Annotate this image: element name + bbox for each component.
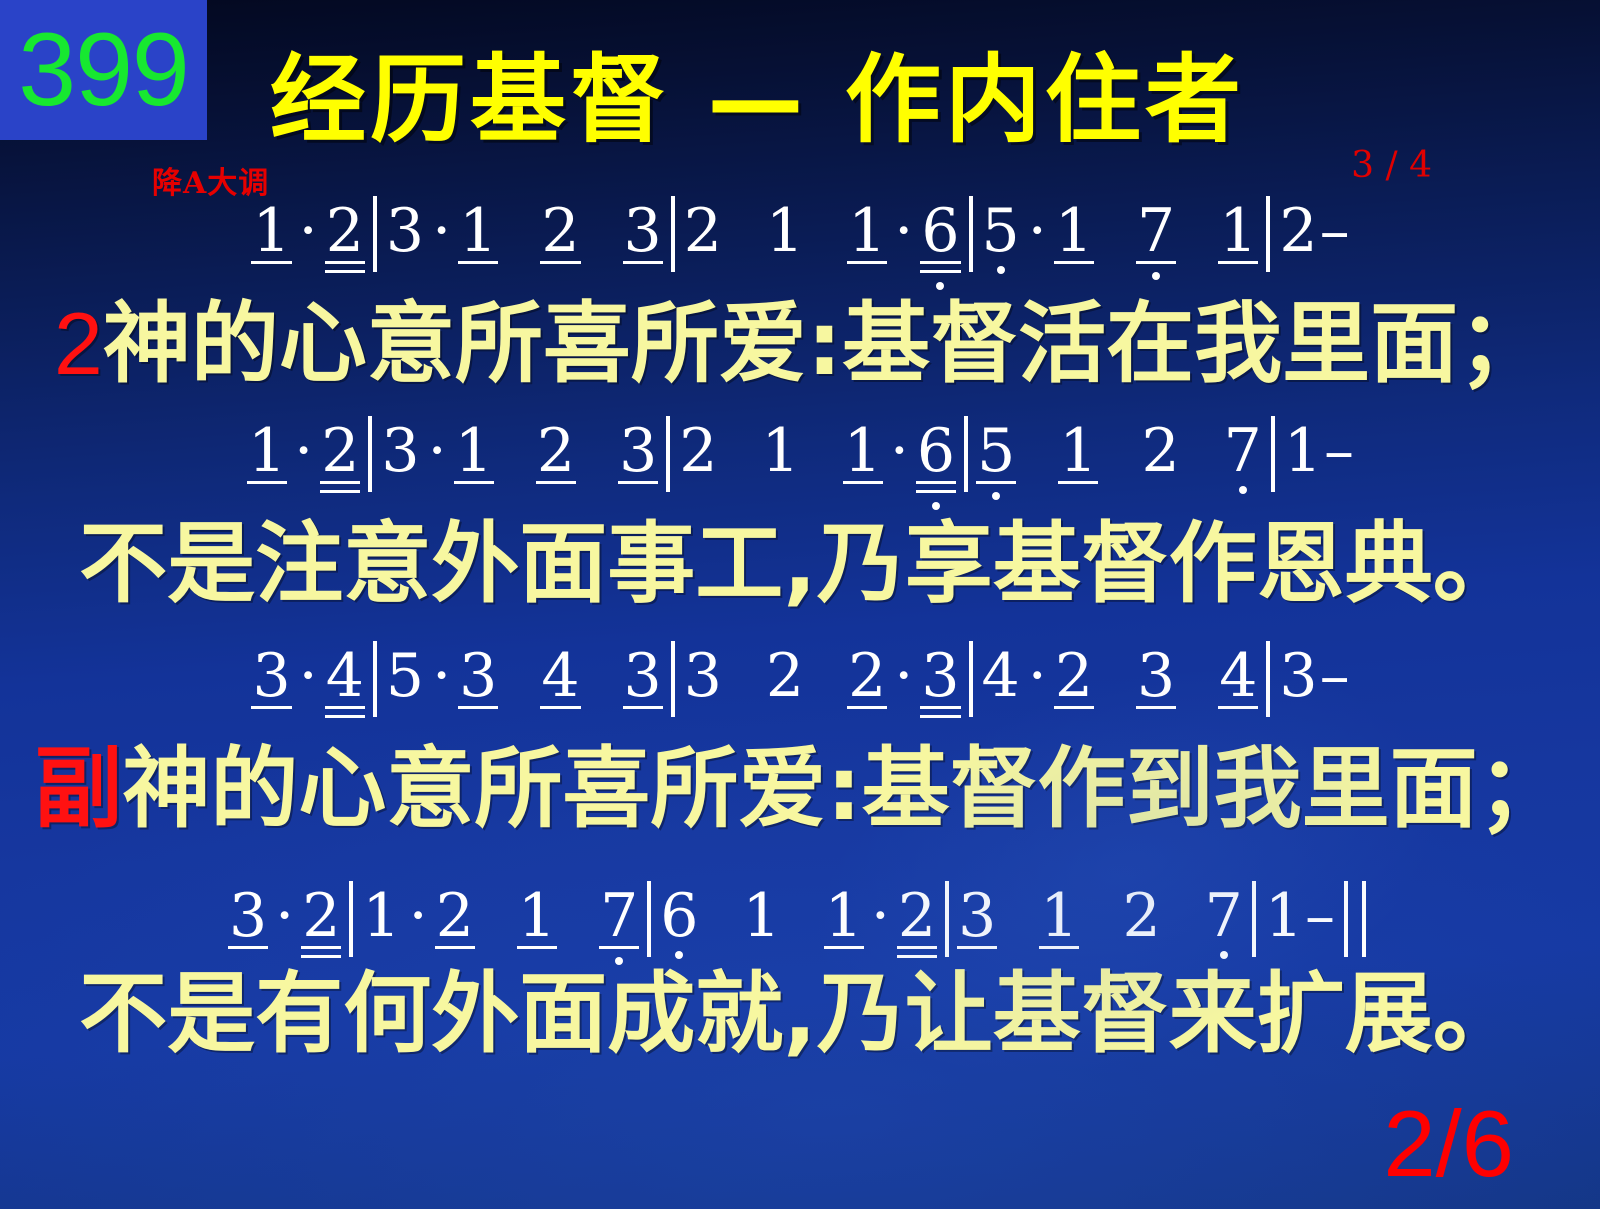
- note: 3: [682, 641, 724, 711]
- note: 6: [658, 881, 700, 951]
- page-counter: 2/6: [1383, 1097, 1514, 1191]
- note: 7: [1203, 881, 1245, 951]
- note: 2: [764, 641, 806, 711]
- note: 3: [1135, 641, 1177, 711]
- barline: [969, 641, 973, 717]
- low-octave-dot: [997, 266, 1005, 274]
- low-octave-dot: [1152, 272, 1160, 280]
- verse-marker-1: 2: [54, 294, 103, 393]
- note: 3: [1277, 641, 1319, 711]
- augmentation-dot: ·: [865, 881, 896, 951]
- notation-stave-3: 3·45·343322·34·2343–: [0, 641, 1600, 745]
- low-octave-dot: [1239, 486, 1247, 494]
- low-octave-dot: [936, 282, 944, 290]
- note: 1: [453, 416, 495, 486]
- low-octave-dot: [992, 492, 1000, 500]
- note: 7: [1135, 196, 1177, 266]
- barline: [945, 881, 949, 957]
- note: 6: [919, 196, 961, 266]
- note: 3: [919, 641, 961, 711]
- sustain-dash: –: [1320, 641, 1350, 711]
- note: 3: [227, 881, 269, 951]
- measure: 1·217: [360, 881, 640, 951]
- note: 1: [846, 196, 888, 266]
- note: 3: [379, 416, 421, 486]
- measure: 4·234: [980, 641, 1260, 711]
- notation-stave-2: 1·23·123211·651271–: [0, 416, 1600, 520]
- note: 1: [250, 196, 292, 266]
- measure: 1·2: [246, 416, 361, 486]
- measure: 5·343: [384, 641, 664, 711]
- lyric-text-2: 不是注意外面事工,乃享基督作恩典。: [79, 512, 1520, 615]
- note: 2: [535, 416, 577, 486]
- augmentation-dot: ·: [422, 416, 453, 486]
- note: 3: [457, 641, 499, 711]
- lyric-line-2: 不是注意外面事工,乃享基督作恩典。: [0, 516, 1600, 612]
- measure: 211·6: [677, 416, 957, 486]
- note: 2: [1277, 196, 1319, 266]
- note: 1: [1057, 416, 1099, 486]
- lyric-text-1: 神的心意所喜所爱:基督活在我里面；: [103, 292, 1546, 395]
- note: 2: [1120, 881, 1162, 951]
- note: 2: [300, 881, 342, 951]
- barline: [969, 196, 973, 272]
- note: 5: [384, 641, 426, 711]
- notation-stave-1: 1·23·123211·65·1712–: [0, 196, 1600, 300]
- augmentation-dot: ·: [403, 881, 434, 951]
- measure: 5·171: [980, 196, 1260, 266]
- note: 1: [1263, 881, 1305, 951]
- hymn-slide: 399 降A大调 经历基督 — 作内住者 3 / 4 1·23·123211·6…: [0, 0, 1600, 1209]
- barline: [671, 641, 675, 717]
- note: 3: [617, 416, 659, 486]
- note: 2: [324, 196, 366, 266]
- note: 1: [1053, 196, 1095, 266]
- note: 1: [1217, 196, 1259, 266]
- barline: [671, 196, 675, 272]
- measure: 3·4: [250, 641, 365, 711]
- note: 2: [896, 881, 938, 951]
- note: 2: [682, 196, 724, 266]
- measure: 3·2: [227, 881, 342, 951]
- note: 1: [764, 196, 806, 266]
- note: 3: [384, 196, 426, 266]
- note: 4: [324, 641, 366, 711]
- augmentation-dot: ·: [426, 641, 457, 711]
- note: 1: [246, 416, 288, 486]
- measure: 3–: [1277, 641, 1349, 711]
- measure: 2–: [1277, 196, 1349, 266]
- augmentation-dot: ·: [1022, 196, 1053, 266]
- note: 3: [250, 641, 292, 711]
- note: 1: [1038, 881, 1080, 951]
- note: 2: [846, 641, 888, 711]
- barline: [647, 881, 651, 957]
- note: 4: [1217, 641, 1259, 711]
- augmentation-dot: ·: [293, 641, 324, 711]
- note: 3: [956, 881, 998, 951]
- note: 4: [980, 641, 1022, 711]
- barline: [373, 196, 377, 272]
- note: 7: [598, 881, 640, 951]
- verse-marker-3: 副: [34, 737, 122, 840]
- sustain-dash: –: [1305, 881, 1335, 951]
- measure: 3·123: [379, 416, 659, 486]
- lyric-text-4: 不是有何外面成就,乃让基督来扩展。: [79, 962, 1520, 1065]
- note: 7: [1222, 416, 1264, 486]
- note: 2: [539, 196, 581, 266]
- barline: [666, 416, 670, 492]
- measure: 3·123: [384, 196, 664, 266]
- measure: 1–: [1282, 416, 1354, 486]
- hymn-number-badge: 399: [0, 0, 207, 140]
- hymn-number: 399: [18, 18, 189, 122]
- note: 1: [360, 881, 402, 951]
- page-title: 经历基督 — 作内住者: [270, 52, 1245, 148]
- note: 2: [319, 416, 361, 486]
- note: 3: [622, 196, 664, 266]
- augmentation-dot: ·: [884, 416, 915, 486]
- barline: [1266, 196, 1270, 272]
- note: 2: [434, 881, 476, 951]
- sustain-dash: –: [1320, 196, 1350, 266]
- augmentation-dot: ·: [1022, 641, 1053, 711]
- augmentation-dot: ·: [888, 196, 919, 266]
- measure: 611·2: [658, 881, 938, 951]
- time-signature-label: 3 / 4: [1351, 145, 1432, 186]
- note: 1: [842, 416, 884, 486]
- note: 2: [1053, 641, 1095, 711]
- final-barline: [1344, 881, 1366, 957]
- augmentation-dot: ·: [269, 881, 300, 951]
- low-octave-dot: [932, 502, 940, 510]
- lyric-line-1: 2神的心意所喜所爱:基督活在我里面；: [0, 296, 1600, 392]
- barline: [368, 416, 372, 492]
- note: 6: [915, 416, 957, 486]
- augmentation-dot: ·: [288, 416, 319, 486]
- note: 1: [823, 881, 865, 951]
- note: 1: [759, 416, 801, 486]
- measure: 322·3: [682, 641, 962, 711]
- barline: [349, 881, 353, 957]
- low-octave-dot: [675, 951, 683, 959]
- note: 5: [980, 196, 1022, 266]
- measure: 1–: [1263, 881, 1335, 951]
- sustain-dash: –: [1324, 416, 1354, 486]
- measure: 1·2: [250, 196, 365, 266]
- measure: 211·6: [682, 196, 962, 266]
- low-octave-dot: [1220, 951, 1228, 959]
- augmentation-dot: ·: [888, 641, 919, 711]
- measure: 5127: [975, 416, 1264, 486]
- augmentation-dot: ·: [293, 196, 324, 266]
- lyric-line-3: 副神的心意所喜所爱:基督作到我里面；: [0, 741, 1600, 837]
- augmentation-dot: ·: [426, 196, 457, 266]
- barline: [373, 641, 377, 717]
- note: 1: [457, 196, 499, 266]
- barline: [964, 416, 968, 492]
- barline: [1271, 416, 1275, 492]
- note: 2: [677, 416, 719, 486]
- note: 5: [975, 416, 1017, 486]
- barline: [1266, 641, 1270, 717]
- lyric-text-3: 神的心意所喜所爱:基督作到我里面；: [122, 737, 1565, 840]
- note: 3: [622, 641, 664, 711]
- note: 2: [1139, 416, 1181, 486]
- note: 4: [539, 641, 581, 711]
- note: 1: [516, 881, 558, 951]
- note: 1: [1282, 416, 1324, 486]
- note: 1: [740, 881, 782, 951]
- lyric-line-4: 不是有何外面成就,乃让基督来扩展。: [0, 966, 1600, 1062]
- measure: 3127: [956, 881, 1245, 951]
- barline: [1252, 881, 1256, 957]
